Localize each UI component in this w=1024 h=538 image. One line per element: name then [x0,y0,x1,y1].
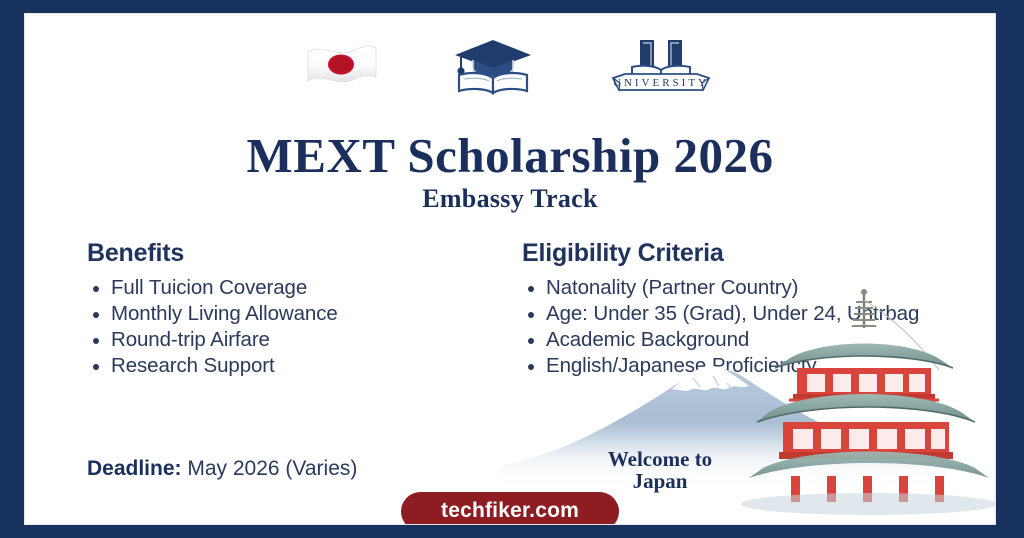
poster-subtitle: Embassy Track [25,184,995,214]
graduation-cap-book-icon [451,35,535,95]
icon-row: UNIVERSITY [25,30,995,100]
poster-title: MEXT Scholarship 2026 [25,127,995,184]
benefits-heading: Benefits [87,239,487,268]
japan-flag-icon [305,39,379,91]
benefits-list: Full Tuicion Coverage Monthly Living All… [87,275,487,379]
list-item: Round-trip Airfare [87,327,487,353]
welcome-line-2: Japan [565,470,755,492]
poster-card: UNIVERSITY MEXT Scholarship 2026 Embassy… [24,13,996,525]
benefits-section: Benefits Full Tuicion Coverage Monthly L… [87,239,487,379]
list-item: Monthly Living Allowance [87,301,487,327]
university-crest-ribbon-text: UNIVERSITY [613,77,709,89]
deadline-value: May 2026 (Varies) [187,457,357,480]
website-badge[interactable]: techfiker.com [401,492,619,525]
eligibility-heading: Eligibility Criteria [522,239,996,268]
list-item: English/Japanese Proficiencty [522,353,996,379]
list-item: Age: Under 35 (Grad), Under 24, Untrbag [522,301,996,327]
list-item: Academic Background [522,327,996,353]
eligibility-section: Eligibility Criteria Natonality (Partner… [522,239,996,379]
poster-root: UNIVERSITY MEXT Scholarship 2026 Embassy… [0,0,1024,538]
list-item: Natonality (Partner Country) [522,275,996,301]
list-item: Full Tuicion Coverage [87,275,487,301]
welcome-text: Welcome to Japan [565,448,755,492]
welcome-line-1: Welcome to [565,448,755,470]
deadline-label: Deadline: [87,457,182,480]
eligibility-list: Natonality (Partner Country) Age: Under … [522,275,996,379]
deadline-text: Deadline: May 2026 (Varies) [87,457,357,481]
list-item: Research Support [87,353,487,379]
university-crest-icon: UNIVERSITY [607,34,715,96]
